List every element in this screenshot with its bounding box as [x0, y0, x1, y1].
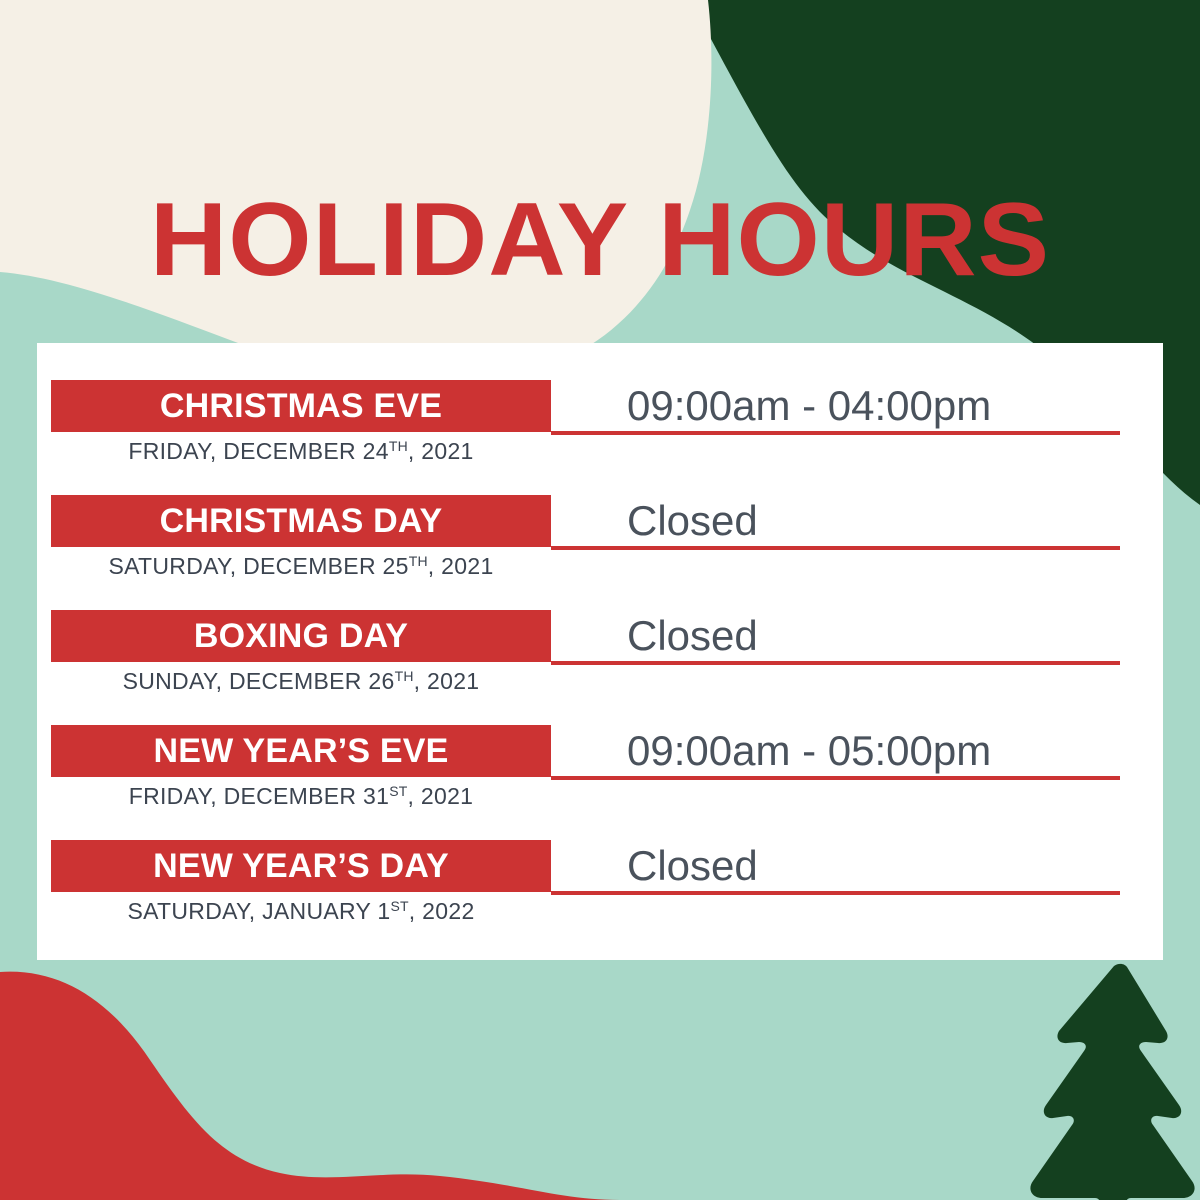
holiday-name-label: BOXING DAY — [194, 617, 408, 656]
schedule-row: BOXING DAY SUNDAY, DECEMBER 26TH, 2021 C… — [37, 573, 1163, 688]
holiday-hours-poster: HOLIDAY HOURS CHRISTMAS EVE FRIDAY, DECE… — [0, 0, 1200, 1200]
schedule-row: NEW YEAR’S DAY SATURDAY, JANUARY 1ST, 20… — [37, 803, 1163, 918]
hours-underline — [551, 431, 1120, 435]
holiday-name-label: NEW YEAR’S EVE — [153, 732, 448, 771]
holiday-name-banner: CHRISTMAS DAY — [51, 495, 551, 547]
holiday-name-banner: NEW YEAR’S DAY — [51, 840, 551, 892]
holiday-name-label: NEW YEAR’S DAY — [153, 847, 449, 886]
holiday-date-ordinal: ST — [391, 898, 409, 914]
holiday-hours-value: 09:00am - 05:00pm — [627, 726, 1147, 776]
holiday-date-prefix: SATURDAY, JANUARY 1 — [127, 898, 390, 924]
holiday-hours-value: Closed — [627, 496, 1147, 546]
holiday-date-ordinal: TH — [395, 668, 414, 684]
hours-underline — [551, 661, 1120, 665]
holiday-date-ordinal: ST — [389, 783, 407, 799]
schedule-card: CHRISTMAS EVE FRIDAY, DECEMBER 24TH, 202… — [37, 343, 1163, 960]
hours-underline — [551, 891, 1120, 895]
holiday-name-banner: BOXING DAY — [51, 610, 551, 662]
schedule-row: CHRISTMAS DAY SATURDAY, DECEMBER 25TH, 2… — [37, 458, 1163, 573]
schedule-row: CHRISTMAS EVE FRIDAY, DECEMBER 24TH, 202… — [37, 343, 1163, 458]
holiday-name-banner: NEW YEAR’S EVE — [51, 725, 551, 777]
holiday-hours-value: Closed — [627, 611, 1147, 661]
holiday-name-banner: CHRISTMAS EVE — [51, 380, 551, 432]
holiday-hours-value: Closed — [627, 841, 1147, 891]
holiday-date: SATURDAY, JANUARY 1ST, 2022 — [51, 898, 551, 925]
page-title: HOLIDAY HOURS — [0, 188, 1200, 292]
hours-underline — [551, 776, 1120, 780]
holiday-hours-value: 09:00am - 04:00pm — [627, 381, 1147, 431]
holiday-date-year: , 2022 — [409, 898, 475, 924]
schedule-row: NEW YEAR’S EVE FRIDAY, DECEMBER 31ST, 20… — [37, 688, 1163, 803]
holiday-name-label: CHRISTMAS DAY — [160, 502, 443, 541]
holiday-date-ordinal: TH — [389, 438, 408, 454]
holiday-name-label: CHRISTMAS EVE — [160, 387, 442, 426]
hours-underline — [551, 546, 1120, 550]
holiday-date-ordinal: TH — [409, 553, 428, 569]
